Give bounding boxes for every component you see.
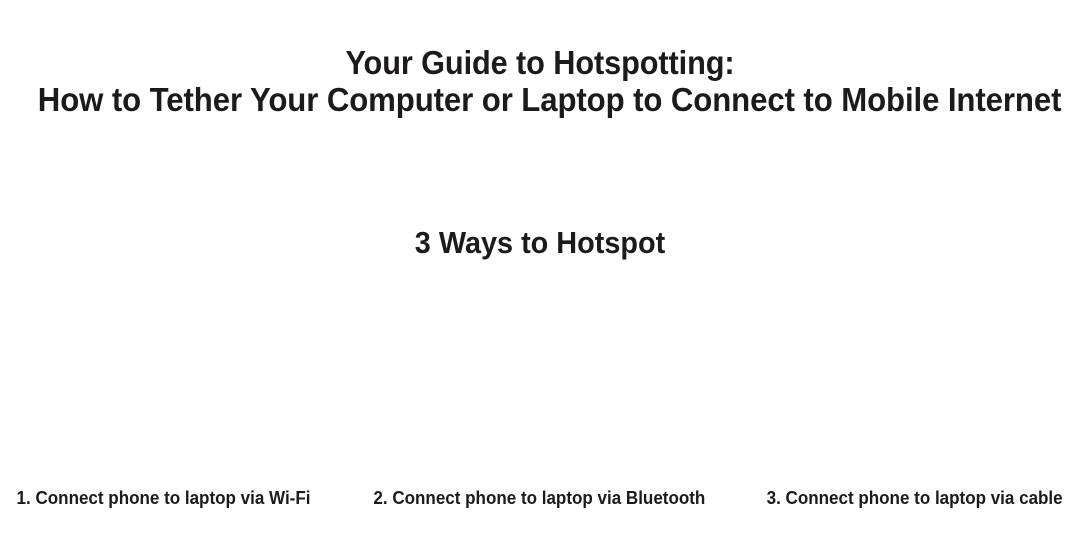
step-caption-cable: 3. Connect phone to laptop via cable: [749, 486, 1080, 510]
page-title-line-2: How to Tether Your Computer or Laptop to…: [38, 82, 1042, 120]
page-title: Your Guide to Hotspotting: How to Tether…: [0, 44, 1080, 120]
section-heading: 3 Ways to Hotspot: [38, 224, 1042, 262]
page-title-line-1: Your Guide to Hotspotting:: [38, 44, 1042, 82]
step-caption-row: 1. Connect phone to laptop via Wi-Fi 2. …: [0, 486, 1080, 514]
illustration-slot-bluetooth: [360, 285, 720, 475]
step-caption-wifi: 1. Connect phone to laptop via Wi-Fi: [0, 486, 330, 510]
illustration-slot-cable: [720, 285, 1080, 475]
illustration-slot-wifi: [0, 285, 360, 475]
step-caption-bluetooth: 2. Connect phone to laptop via Bluetooth: [374, 486, 706, 510]
illustration-row: [0, 285, 1080, 475]
infographic-page: Your Guide to Hotspotting: How to Tether…: [0, 0, 1080, 552]
